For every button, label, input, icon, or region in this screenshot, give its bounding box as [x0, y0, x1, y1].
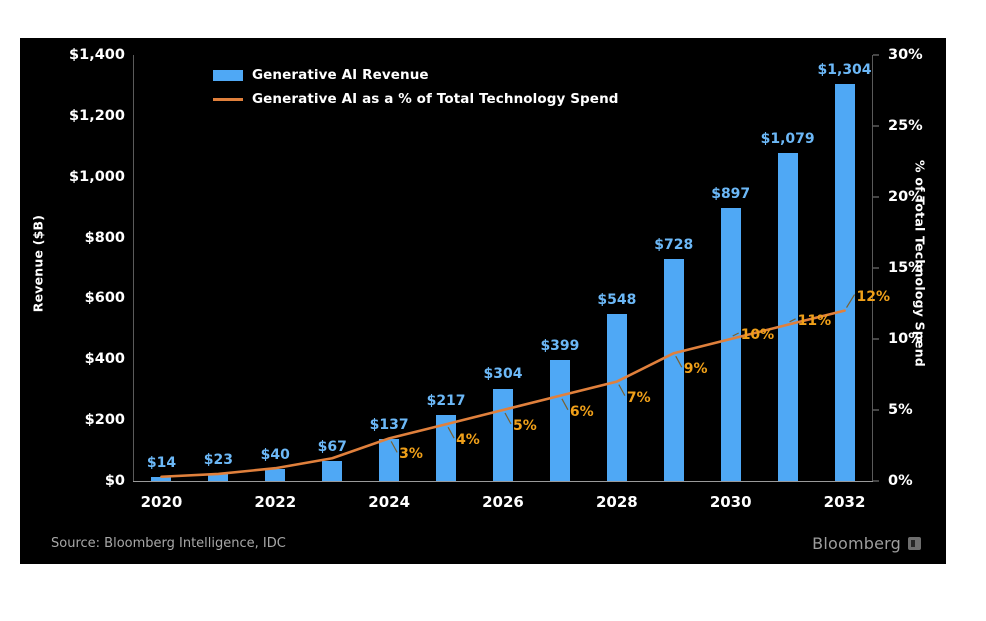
y-axis-left-tick-label: $200 [85, 412, 125, 428]
chart-panel: Revenue ($B) % of Total Technology Spend… [20, 38, 946, 564]
y-axis-right-tick-label: 30% [888, 47, 923, 63]
percent-value-label: 10% [741, 327, 775, 343]
y-axis-right-tick-label: 10% [888, 331, 923, 347]
percent-label-leader-line [847, 295, 855, 308]
bloomberg-branding: Bloomberg [812, 534, 921, 553]
chart-page: Revenue ($B) % of Total Technology Spend… [0, 0, 986, 621]
percent-value-label: 4% [456, 432, 480, 448]
percent-value-label: 9% [684, 361, 708, 377]
percent-value-label: 7% [627, 390, 651, 406]
bloomberg-terminal-icon [908, 537, 921, 550]
y-axis-left-tick-label: $800 [85, 230, 125, 246]
x-axis-tick-label: 2020 [141, 493, 183, 511]
y-axis-left-tick-label: $400 [85, 351, 125, 367]
source-note: Source: Bloomberg Intelligence, IDC [51, 536, 286, 551]
percent-label-leader-line [505, 413, 511, 424]
percent-label-leaders [391, 295, 854, 453]
y-axis-right-tick-label: 15% [888, 260, 923, 276]
brand-name: Bloomberg [812, 534, 901, 553]
y-axis-left-tick-label: $600 [85, 290, 125, 306]
percent-value-label: 3% [399, 446, 423, 462]
y-axis-right-tick-label: 20% [888, 189, 923, 205]
y-axis-right-tick-label: 25% [888, 118, 923, 134]
x-axis-tick-label: 2024 [368, 493, 410, 511]
y-axis-right-tick-label: 0% [888, 473, 913, 489]
y-axis-right-tick-mark [873, 268, 879, 269]
x-axis-tick-label: 2030 [710, 493, 752, 511]
percent-value-label: 11% [798, 313, 832, 329]
y-axis-left-title: Revenue ($B) [31, 154, 46, 374]
y-axis-left-tick-label: $1,000 [69, 169, 125, 185]
x-axis-tick-label: 2028 [596, 493, 638, 511]
x-axis-tick-label: 2022 [254, 493, 296, 511]
percent-value-label: 12% [857, 289, 891, 305]
percent-value-label: 5% [513, 418, 537, 434]
percent-value-label: 6% [570, 404, 594, 420]
percent-label-leader-line [391, 441, 397, 452]
plot-area: $0$200$400$600$800$1,000$1,200$1,400 0%5… [133, 55, 873, 482]
percent-label-leader-line [676, 356, 682, 367]
y-axis-right-tick-mark [873, 197, 879, 198]
y-axis-right-tick-label: 5% [888, 402, 913, 418]
percent-line-series [133, 55, 873, 482]
x-axis-tick-label: 2032 [824, 493, 866, 511]
y-axis-left-tick-label: $1,200 [69, 108, 125, 124]
percent-label-leader-line [790, 319, 796, 322]
x-axis-tick-label: 2026 [482, 493, 524, 511]
y-axis-left-tick-label: $1,400 [69, 47, 125, 63]
percent-label-leader-line [448, 427, 454, 438]
y-axis-right-tick-mark [873, 126, 879, 127]
y-axis-right-tick-mark [873, 481, 879, 482]
percent-label-leader-line [733, 333, 739, 336]
percent-label-leader-line [619, 385, 625, 396]
percent-label-leader-line [562, 399, 568, 410]
y-axis-right-tick-mark [873, 55, 879, 56]
y-axis-right-tick-mark [873, 410, 879, 411]
y-axis-right-tick-mark [873, 339, 879, 340]
y-axis-left-tick-label: $0 [105, 473, 125, 489]
